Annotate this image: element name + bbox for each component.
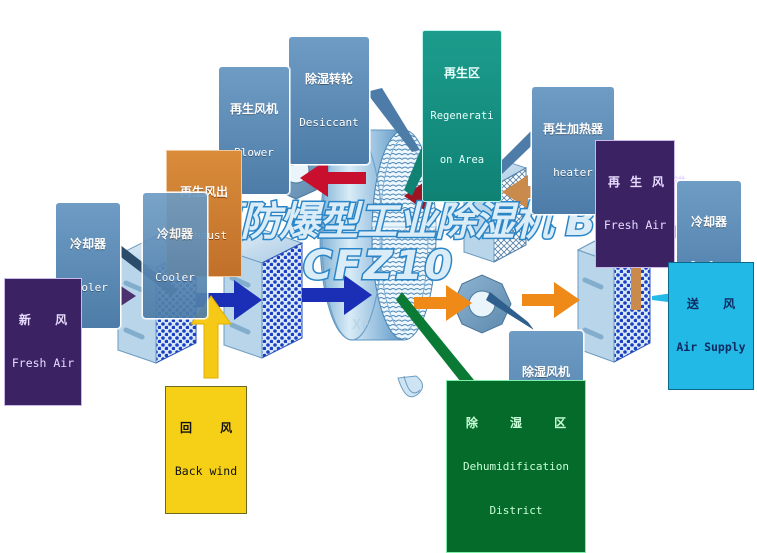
label-air-supply-en: Air Supply [671, 342, 751, 354]
label-dehumidification-district-en-2: District [449, 505, 583, 516]
label-air-supply: 送 风 Air Supply [668, 262, 754, 390]
label-fresh-air-en: Fresh Air [7, 358, 79, 370]
label-regeneration-blower-cn: 再生风机 [221, 103, 287, 115]
label-cooler-right-cn: 冷却器 [679, 216, 739, 228]
label-regeneration-area-en-1: Regenerati [425, 111, 499, 122]
label-desiccant-rotor-en: Desiccant [291, 117, 367, 128]
label-dehumidification-district-cn: 除 湿 区 [449, 417, 583, 429]
label-regeneration-fresh-air-cn: 再生风进 [598, 176, 672, 188]
label-dehumidification-district: 除 湿 区 Dehumidification District [446, 380, 586, 553]
label-back-wind: 回 风 Back wind [165, 386, 247, 514]
label-cooler-left-near-cn: 冷却器 [145, 228, 205, 240]
label-regeneration-area-cn: 再生区 [425, 67, 499, 79]
label-cooler-left-near-en: Cooler [145, 272, 205, 283]
label-air-supply-cn: 送 风 [671, 298, 751, 310]
label-desiccant-rotor-cn: 除湿转轮 [291, 73, 367, 85]
label-dehumidification-district-en-1: Dehumidification [449, 461, 583, 472]
label-regeneration-fresh-air: 再生风进 Fresh Air [595, 140, 675, 268]
arrow-dehum-blower-to-cooler [522, 282, 580, 318]
rotor-faint-text: XF [352, 318, 370, 333]
label-regeneration-area-en-2: on Area [425, 155, 499, 166]
label-back-wind-en: Back wind [168, 466, 244, 478]
label-cooler-left-near: 冷却器 Cooler [142, 192, 208, 319]
dehumidifier-flow-diagram: 临夏防爆型工业除湿机 B CFZ10 XF 除湿转轮 Desiccant 再生风… [0, 0, 757, 488]
label-regeneration-heater-cn: 再生加热器 [534, 123, 612, 135]
label-regeneration-fresh-air-en: Fresh Air [598, 220, 672, 232]
label-regeneration-area: 再生区 Regenerati on Area [422, 30, 502, 202]
label-fresh-air: 新 风 Fresh Air [4, 278, 82, 406]
label-back-wind-cn: 回 风 [168, 422, 244, 434]
label-desiccant-rotor: 除湿转轮 Desiccant [288, 36, 370, 165]
label-fresh-air-cn: 新 风 [7, 314, 79, 326]
label-cooler-left-far-cn: 冷却器 [58, 238, 118, 250]
label-dehumidification-blower-cn: 除湿风机 [511, 366, 581, 378]
